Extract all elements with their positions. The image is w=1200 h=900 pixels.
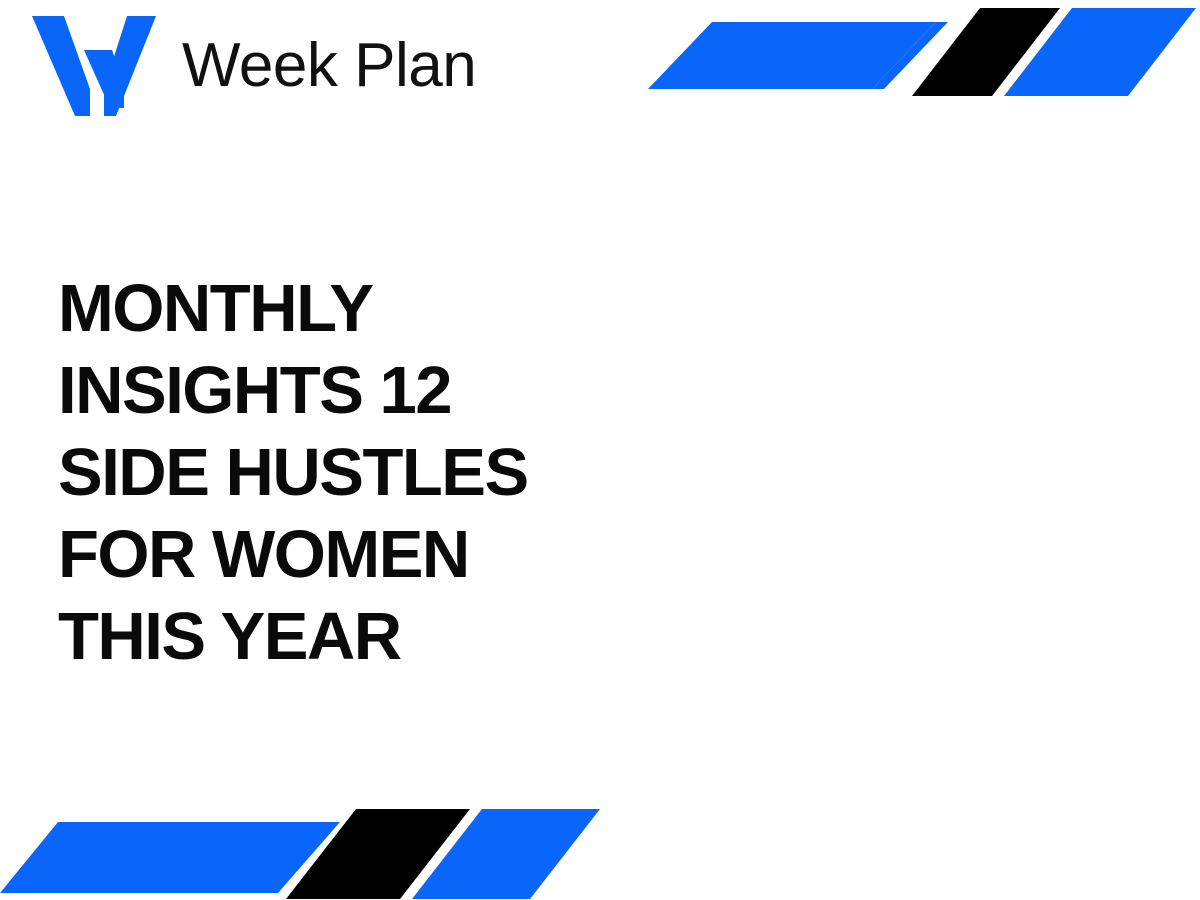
woman-profile-silhouette-icon	[780, 272, 1082, 652]
ribbon-shape-blue-long	[0, 822, 340, 893]
headline-title: MONTHLY INSIGHTS 12 SIDE HUSTLES FOR WOM…	[58, 268, 578, 678]
brand-lockup: Week Plan	[28, 12, 476, 116]
week-plan-w-mark-icon	[28, 12, 160, 116]
banner-canvas: Week Plan MONTHLY INSIGHTS 12 SIDE HUSTL…	[0, 0, 1200, 900]
brand-name: Week Plan	[182, 35, 476, 97]
decorative-ribbon-bottom	[0, 795, 620, 900]
decorative-ribbon-top	[640, 0, 1200, 110]
